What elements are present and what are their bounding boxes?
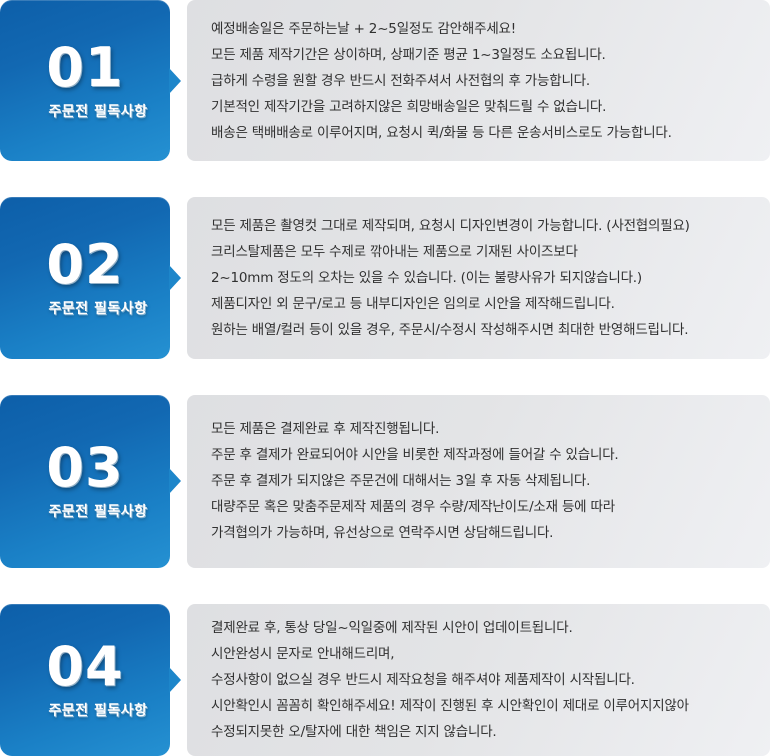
notice-line: 2~10mm 정도의 오차는 있을 수 있습니다. (이는 불량사유가 되지않습…: [211, 265, 770, 291]
notice-number: 02: [46, 238, 123, 292]
notice-caption: 주문전 필독사항: [48, 101, 147, 121]
notice-board: 01 주문전 필독사항 예정배송일은 주문하는날 + 2~5일정도 감안해주세요…: [0, 0, 770, 756]
notice-line: 수정되지못한 오/탈자에 대한 책임은 지지 않습니다.: [211, 719, 770, 745]
notice-line: 예정배송일은 주문하는날 + 2~5일정도 감안해주세요!: [211, 16, 770, 42]
notice-line: 모든 제품은 결제완료 후 제작진행됩니다.: [211, 416, 770, 442]
notice-badge-01: 01 주문전 필독사항: [0, 0, 170, 161]
notice-line: 시안확인시 꼼꼼히 확인해주세요! 제작이 진행된 후 시안확인이 제대로 이루…: [211, 693, 770, 719]
notice-line: 모든 제품은 촬영컷 그대로 제작되며, 요청시 디자인변경이 가능합니다. (…: [211, 213, 770, 239]
notice-badge-02: 02 주문전 필독사항: [0, 197, 170, 359]
notice-line: 가격협의가 가능하며, 유선상으로 연락주시면 상담해드립니다.: [211, 520, 770, 546]
notice-line: 제품디자인 외 문구/로고 등 내부디자인은 임의로 시안을 제작해드립니다.: [211, 291, 770, 317]
notice-caption: 주문전 필독사항: [48, 298, 147, 318]
notice-number: 04: [46, 640, 123, 694]
notice-line: 크리스탈제품은 모두 수제로 깎아내는 제품으로 기재된 사이즈보다: [211, 239, 770, 265]
notice-line: 기본적인 제작기간을 고려하지않은 희망배송일은 맞춰드릴 수 없습니다.: [211, 94, 770, 120]
notice-line: 급하게 수령을 원할 경우 반드시 전화주셔서 사전협의 후 가능합니다.: [211, 68, 770, 94]
notice-line: 결제완료 후, 통상 당일~익일중에 제작된 시안이 업데이트됩니다.: [211, 615, 770, 641]
notice-badge-04: 04 주문전 필독사항: [0, 604, 170, 756]
notice-line: 원하는 배열/컬러 등이 있을 경우, 주문시/수정시 작성해주시면 최대한 반…: [211, 317, 770, 343]
notice-panel-04: 결제완료 후, 통상 당일~익일중에 제작된 시안이 업데이트됩니다. 시안완성…: [187, 604, 770, 756]
notice-row: 02 주문전 필독사항 모든 제품은 촬영컷 그대로 제작되며, 요청시 디자인…: [0, 197, 770, 359]
notice-panel-03: 모든 제품은 결제완료 후 제작진행됩니다. 주문 후 결제가 완료되어야 시안…: [187, 395, 770, 568]
notice-line: 대량주문 혹은 맞춤주문제작 제품의 경우 수량/제작난이도/소재 등에 따라: [211, 494, 770, 520]
notice-panel-01: 예정배송일은 주문하는날 + 2~5일정도 감안해주세요! 모든 제품 제작기간…: [187, 0, 770, 161]
notice-number: 01: [46, 41, 123, 95]
notice-line: 모든 제품 제작기간은 상이하며, 상패기준 평균 1~3일정도 소요됩니다.: [211, 42, 770, 68]
notice-line: 주문 후 결제가 완료되어야 시안을 비롯한 제작과정에 들어갈 수 있습니다.: [211, 442, 770, 468]
notice-badge-03: 03 주문전 필독사항: [0, 395, 170, 568]
notice-line: 주문 후 결제가 되지않은 주문건에 대해서는 3일 후 자동 삭제됩니다.: [211, 468, 770, 494]
notice-number: 03: [46, 441, 123, 495]
notice-row: 03 주문전 필독사항 모든 제품은 결제완료 후 제작진행됩니다. 주문 후 …: [0, 395, 770, 568]
notice-row: 01 주문전 필독사항 예정배송일은 주문하는날 + 2~5일정도 감안해주세요…: [0, 0, 770, 161]
notice-row: 04 주문전 필독사항 결제완료 후, 통상 당일~익일중에 제작된 시안이 업…: [0, 604, 770, 756]
notice-line: 배송은 택배배송로 이루어지며, 요청시 퀵/화물 등 다른 운송서비스로도 가…: [211, 120, 770, 146]
notice-caption: 주문전 필독사항: [48, 700, 147, 720]
notice-panel-02: 모든 제품은 촬영컷 그대로 제작되며, 요청시 디자인변경이 가능합니다. (…: [187, 197, 770, 359]
notice-caption: 주문전 필독사항: [48, 501, 147, 521]
notice-line: 시안완성시 문자로 안내해드리며,: [211, 641, 770, 667]
notice-line: 수정사항이 없으실 경우 반드시 제작요청을 해주셔야 제품제작이 시작됩니다.: [211, 667, 770, 693]
